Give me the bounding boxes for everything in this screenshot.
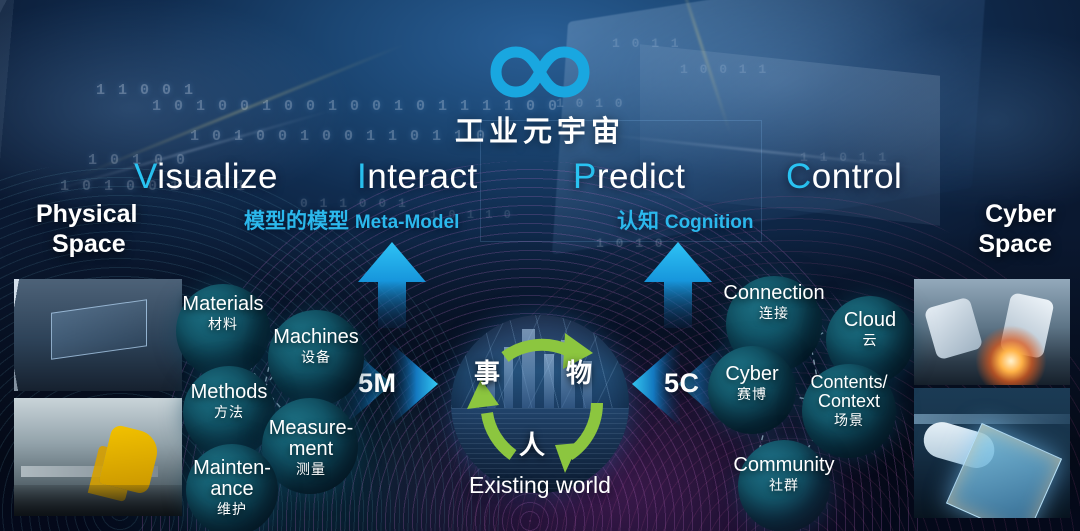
bubble-label-machines-en: Machines [266, 327, 366, 348]
heading-predict: Predict [573, 157, 685, 197]
label-cyber-space-line1: Cyber [978, 200, 1056, 230]
heading-visualize: Visualize [134, 157, 278, 197]
heading-interact-rest: nteract [367, 157, 478, 196]
heading-visualize-cap: V [134, 157, 157, 196]
bubble-label-contents-context-en2: Context [792, 392, 906, 411]
up-arrow-right-icon [642, 240, 714, 328]
heading-predict-rest: redict [597, 157, 686, 196]
bubble-label-contents-context-en1: Contents/ [792, 373, 906, 392]
bubble-label-connection-en: Connection [718, 283, 830, 304]
bubble-label-methods-en: Methods [181, 382, 277, 403]
sublabel-cognition: 认知 Cognition [617, 205, 753, 235]
bubble-label-connection-cn: 连接 [718, 306, 830, 321]
center-existing-world-circle[interactable] [451, 315, 629, 493]
sublabel-cognition-cn: 认知 [617, 210, 659, 233]
bubble-label-materials: Materials 材料 [176, 294, 270, 332]
bubble-label-machines: Machines 设备 [266, 327, 366, 365]
heading-interact-cap: I [357, 157, 367, 196]
cycle-arrows-icon [451, 315, 629, 493]
heading-visualize-rest: isualize [157, 157, 278, 196]
infinity-icon [464, 42, 616, 102]
bubble-label-cyber-cn: 赛博 [706, 387, 798, 402]
photo-digital-twin-factory [14, 279, 182, 391]
heading-control-cap: C [786, 157, 812, 196]
sublabel-meta-model: 模型的模型 Meta-Model [244, 205, 459, 235]
center-char-right: 物 [566, 353, 592, 390]
label-physical-space-line2: Space [36, 230, 137, 260]
center-char-bottom: 人 [519, 425, 545, 462]
bubble-label-machines-cn: 设备 [266, 350, 366, 365]
label-cyber-space-line2: Space [978, 230, 1056, 260]
bubble-label-contents-context-cn: 场景 [792, 413, 906, 428]
sublabel-meta-model-en: Meta-Model [355, 212, 460, 233]
heading-control: Control [786, 157, 902, 197]
center-caption: Existing world [0, 472, 1080, 499]
bubble-label-cloud-cn: 云 [826, 333, 914, 348]
sublabel-cognition-en: Cognition [665, 212, 754, 233]
heading-predict-cap: P [573, 157, 597, 196]
bubble-label-materials-en: Materials [176, 294, 270, 315]
bubble-label-measurement-en1: Measure- [256, 418, 366, 439]
bubble-label-maintenance-cn: 维护 [180, 502, 284, 517]
center-char-left: 事 [474, 353, 500, 390]
page-title: 工业元宇宙 [0, 108, 1080, 150]
photo-welding-robots [914, 279, 1070, 385]
label-physical-space: Physical Space [36, 200, 137, 259]
label-cyber-space: Cyber Space [978, 200, 1056, 259]
bubble-label-cloud-en: Cloud [826, 310, 914, 331]
heading-interact: Interact [357, 157, 478, 197]
bubble-label-cloud: Cloud 云 [826, 310, 914, 348]
bubble-label-materials-cn: 材料 [176, 317, 270, 332]
bubble-label-cyber-en: Cyber [706, 364, 798, 385]
bubble-label-contents-context: Contents/ Context 场景 [792, 373, 906, 428]
slide-canvas: 1 1 0 0 11 0 1 0 0 1 0 0 1 0 0 1 0 1 1 1… [0, 0, 1080, 531]
photo-detail-arm-left [923, 297, 983, 361]
bubble-label-methods: Methods 方法 [181, 382, 277, 420]
bubble-label-cyber: Cyber 赛博 [706, 364, 798, 402]
label-physical-space-line1: Physical [36, 200, 137, 230]
chevron-label-5c: 5C [664, 368, 700, 399]
heading-control-rest: ontrol [812, 157, 903, 196]
sublabel-meta-model-cn: 模型的模型 [244, 210, 349, 233]
bubble-label-connection: Connection 连接 [718, 283, 830, 321]
